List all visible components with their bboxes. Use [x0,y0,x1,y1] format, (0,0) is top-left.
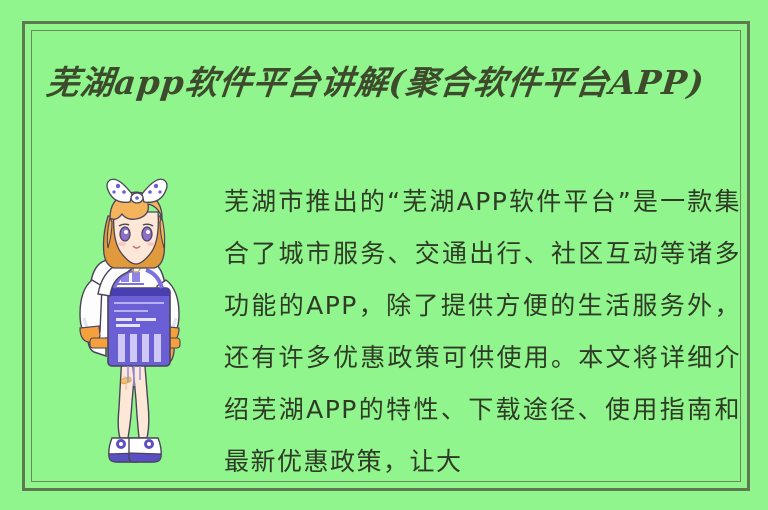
anime-girl-illustration [62,176,218,476]
sneakers-group [109,438,161,462]
article-body-text: 芜湖市推出的“芜湖APP软件平台”是一款集合了城市服务、交通出行、社区互动等诸多… [224,176,741,481]
page-title: 芜湖app软件平台讲解(聚合软件平台APP) [44,58,735,107]
page-canvas: 芜湖app软件平台讲解(聚合软件平台APP) [0,0,768,510]
anime-girl-svg [62,176,218,476]
bow-headband [107,179,167,203]
